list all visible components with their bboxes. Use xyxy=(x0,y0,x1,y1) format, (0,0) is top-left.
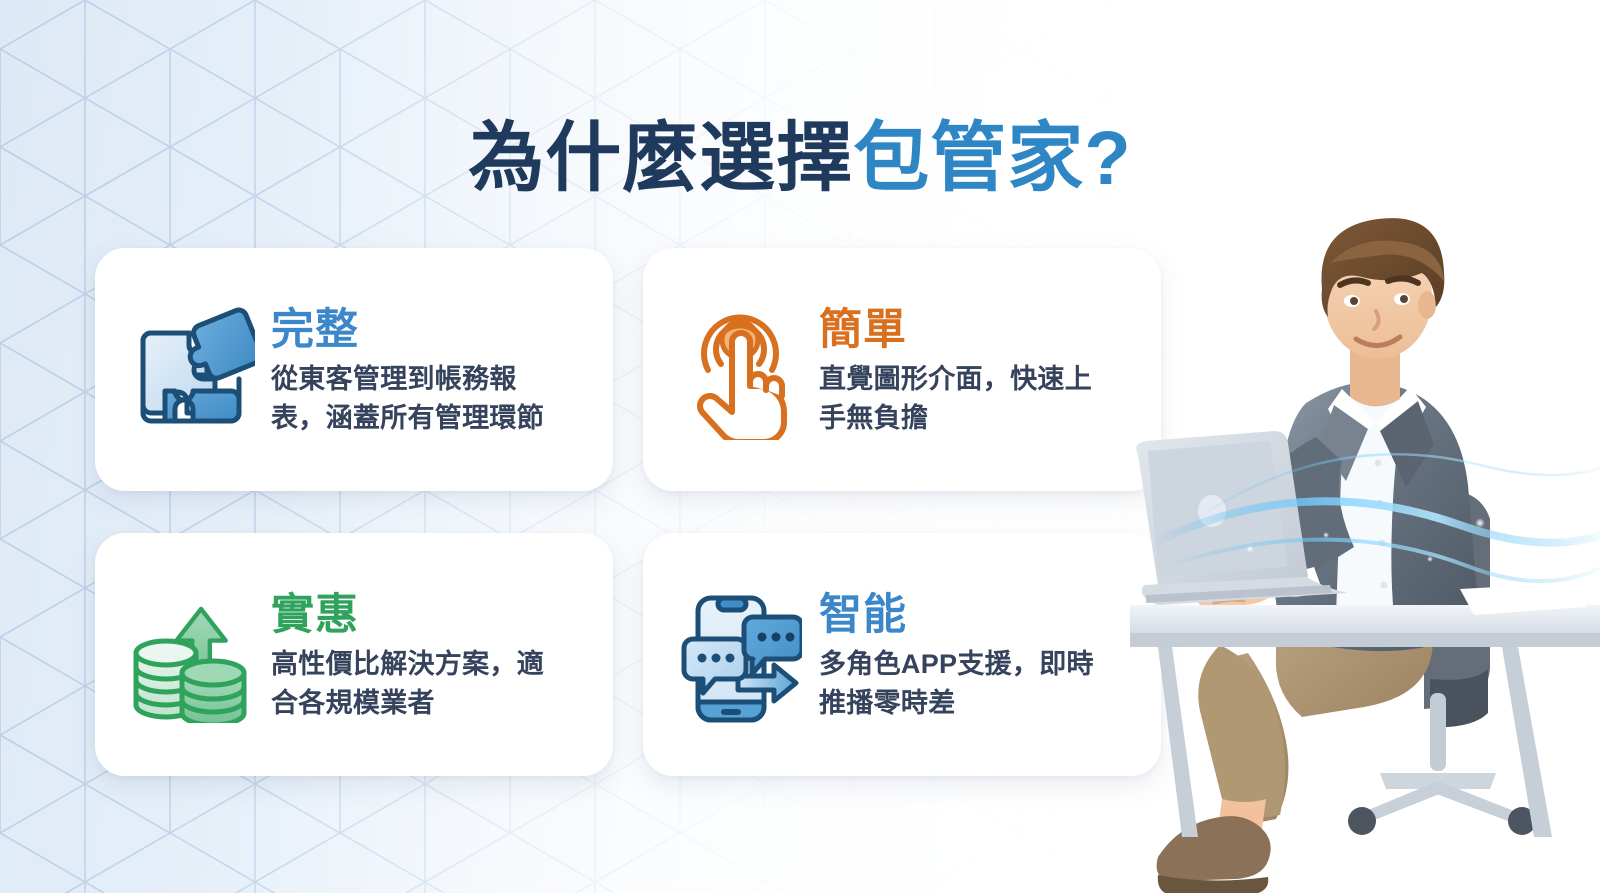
feature-card-complete[interactable]: 完整 從東客管理到帳務報 表，涵蓋所有管理環節 xyxy=(95,248,613,491)
card-description-line-2: 推播零時差 xyxy=(819,684,1135,722)
card-description-line-1: 多角色APP支援，即時 xyxy=(819,645,1135,683)
card-description-line-2: 手無負擔 xyxy=(819,399,1135,437)
card-description-line-1: 直覺圖形介面，快速上 xyxy=(819,360,1135,398)
card-description-line-1: 高性價比解決方案，適 xyxy=(271,645,587,683)
card-body: 實惠 高性價比解決方案，適 合各規模業者 xyxy=(271,587,587,722)
card-description: 多角色APP支援，即時 推播零時差 xyxy=(819,645,1135,722)
tap-gesture-icon xyxy=(669,295,811,445)
businessman-at-laptop-illustration xyxy=(1130,193,1600,893)
card-description-line-2: 表，涵蓋所有管理環節 xyxy=(271,399,587,437)
card-heading: 完整 xyxy=(271,306,587,354)
card-description-line-2: 合各規模業者 xyxy=(271,684,587,722)
feature-card-affordable[interactable]: 實惠 高性價比解決方案，適 合各規模業者 xyxy=(95,533,613,776)
page-title-accent: 包管家? xyxy=(853,116,1131,201)
phone-chat-icon xyxy=(669,580,811,730)
card-heading: 智能 xyxy=(819,591,1135,639)
feature-card-grid: 完整 從東客管理到帳務報 表，涵蓋所有管理環節 xyxy=(95,248,1161,776)
card-description: 從東客管理到帳務報 表，涵蓋所有管理環節 xyxy=(271,360,587,437)
card-heading: 實惠 xyxy=(271,591,587,639)
feature-card-simple[interactable]: 簡單 直覺圖形介面，快速上 手無負擔 xyxy=(643,248,1161,491)
card-description: 高性價比解決方案，適 合各規模業者 xyxy=(271,645,587,722)
card-body: 智能 多角色APP支援，即時 推播零時差 xyxy=(819,587,1135,722)
infographic-canvas: 為什麼選擇包管家? xyxy=(0,0,1600,893)
page-title: 為什麼選擇包管家? xyxy=(0,117,1600,201)
page-title-lead: 為什麼選擇 xyxy=(468,116,853,201)
card-heading: 簡單 xyxy=(819,306,1135,354)
feature-card-smart[interactable]: 智能 多角色APP支援，即時 推播零時差 xyxy=(643,533,1161,776)
card-description: 直覺圖形介面，快速上 手無負擔 xyxy=(819,360,1135,437)
coins-growth-icon xyxy=(121,580,263,730)
puzzle-icon xyxy=(121,295,263,445)
card-body: 完整 從東客管理到帳務報 表，涵蓋所有管理環節 xyxy=(271,302,587,437)
card-description-line-1: 從東客管理到帳務報 xyxy=(271,360,587,398)
card-body: 簡單 直覺圖形介面，快速上 手無負擔 xyxy=(819,302,1135,437)
